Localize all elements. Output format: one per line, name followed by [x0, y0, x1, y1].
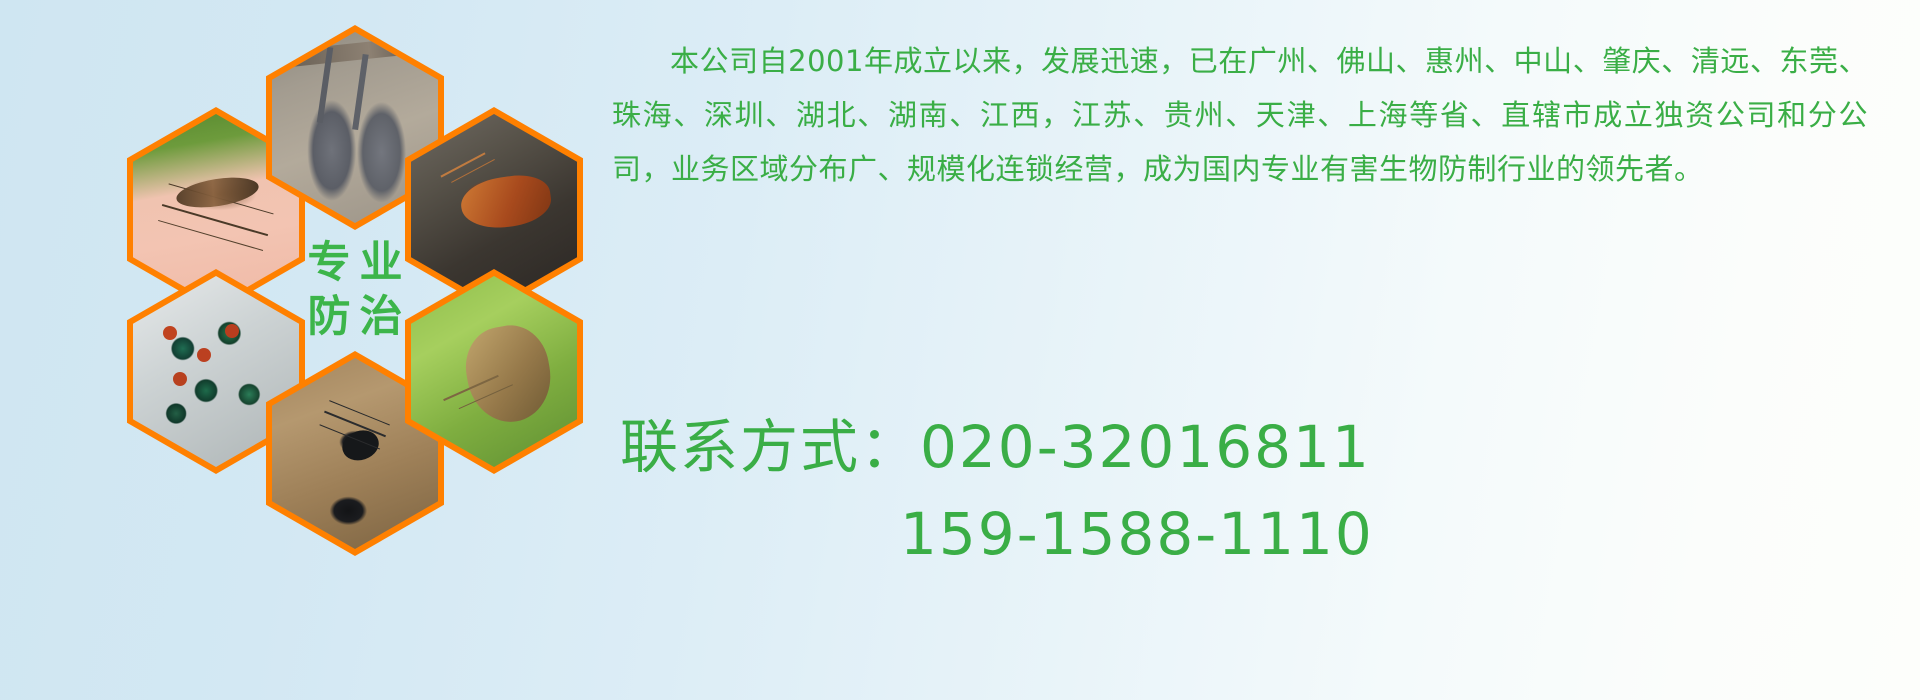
contact-primary-line: 联系方式：020-32016811: [620, 400, 1880, 484]
company-intro-block: 本公司自2001年成立以来，发展迅速，已在广州、佛山、惠州、中山、肇庆、清远、东…: [612, 34, 1868, 196]
promo-banner: 专业 防治 本公司自2001年成立以来，发展迅速，已在广州、佛山、惠州、中山、肇…: [0, 0, 1920, 700]
slogan-line-1: 专业: [299, 241, 412, 286]
company-intro-paragraph: 本公司自2001年成立以来，发展迅速，已在广州、佛山、惠州、中山、肇庆、清远、东…: [612, 34, 1868, 196]
contact-secondary-phone: 159-1588-1110: [900, 500, 1880, 568]
contact-block: 联系方式：020-32016811 159-1588-1110: [620, 400, 1880, 568]
honeycomb-photo-cluster: 专业 防治: [95, 0, 595, 572]
slogan-line-2: 防治: [299, 295, 412, 340]
